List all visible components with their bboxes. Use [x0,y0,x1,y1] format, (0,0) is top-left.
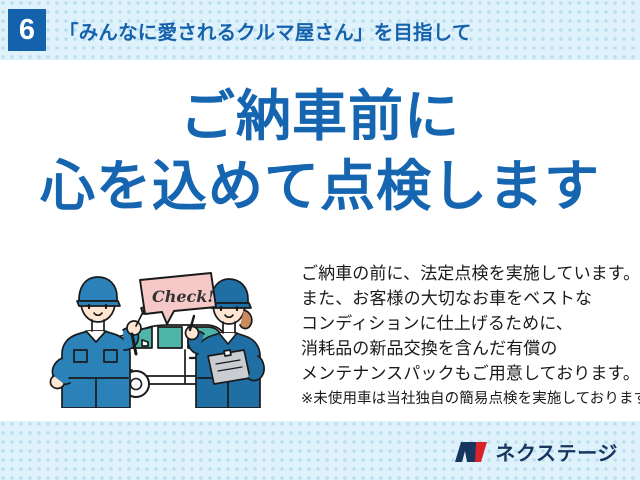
body-line-5: メンテナンスパックもご用意しております。 [301,362,640,387]
mechanics-illustration: Check! [48,258,293,408]
content-area: Check! ご納車の前に、法定点検を実施しています。 また、お客様の大切なお車… [0,258,640,413]
banner-header: 6 「みんなに愛されるクルマ屋さん」を目指して [0,0,640,60]
promo-banner: 6 「みんなに愛されるクルマ屋さん」を目指して ご納車前に 心を込めて点検します [0,0,640,480]
body-line-4: 消耗品の新品交換を含んだ有償の [301,337,640,362]
check-bubble-text: Check! [152,287,214,306]
main-headline: ご納車前に 心を込めて点検します [0,86,640,217]
nextage-logo: ネクステージ [454,437,618,466]
body-note: ※未使用車は当社独自の簡易点検を実施しております。 [301,389,640,411]
step-number-badge: 6 [8,9,46,51]
body-line-3: コンディションに仕上げるために、 [301,312,640,337]
body-line-1: ご納車の前に、法定点検を実施しています。 [301,262,640,287]
headline-line-2: 心を込めて点検します [0,156,640,218]
headline-line-1: ご納車前に [0,86,640,148]
nextage-n-mark-icon [454,440,488,464]
body-copy: ご納車の前に、法定点検を実施しています。 また、お客様の大切なお車をベストな コ… [301,258,640,411]
body-line-2: また、お客様の大切なお車をベストな [301,287,640,312]
header-title: 「みんなに愛されるクルマ屋さん」を目指して [59,16,472,45]
nextage-brand-name: ネクステージ [495,437,618,466]
